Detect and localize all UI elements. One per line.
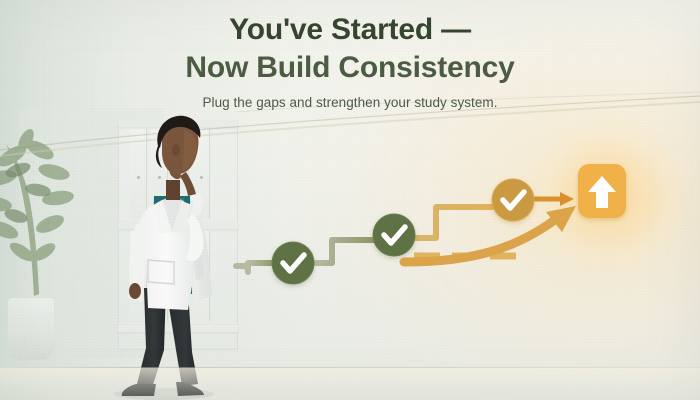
headline-line-2: Now Build Consistency [0,50,700,86]
promotional-banner: You've Started — Now Build Consistency P… [0,0,700,400]
headline-line-1: You've Started — [0,12,700,48]
step-3-check [492,179,534,221]
headline-block: You've Started — Now Build Consistency P… [0,12,700,110]
step-2-check [373,214,415,256]
step-1-check [272,242,314,284]
step-to-goal-arrow [534,192,574,206]
subtitle: Plug the gaps and strengthen your study … [0,95,700,110]
goal-tile [578,164,626,218]
